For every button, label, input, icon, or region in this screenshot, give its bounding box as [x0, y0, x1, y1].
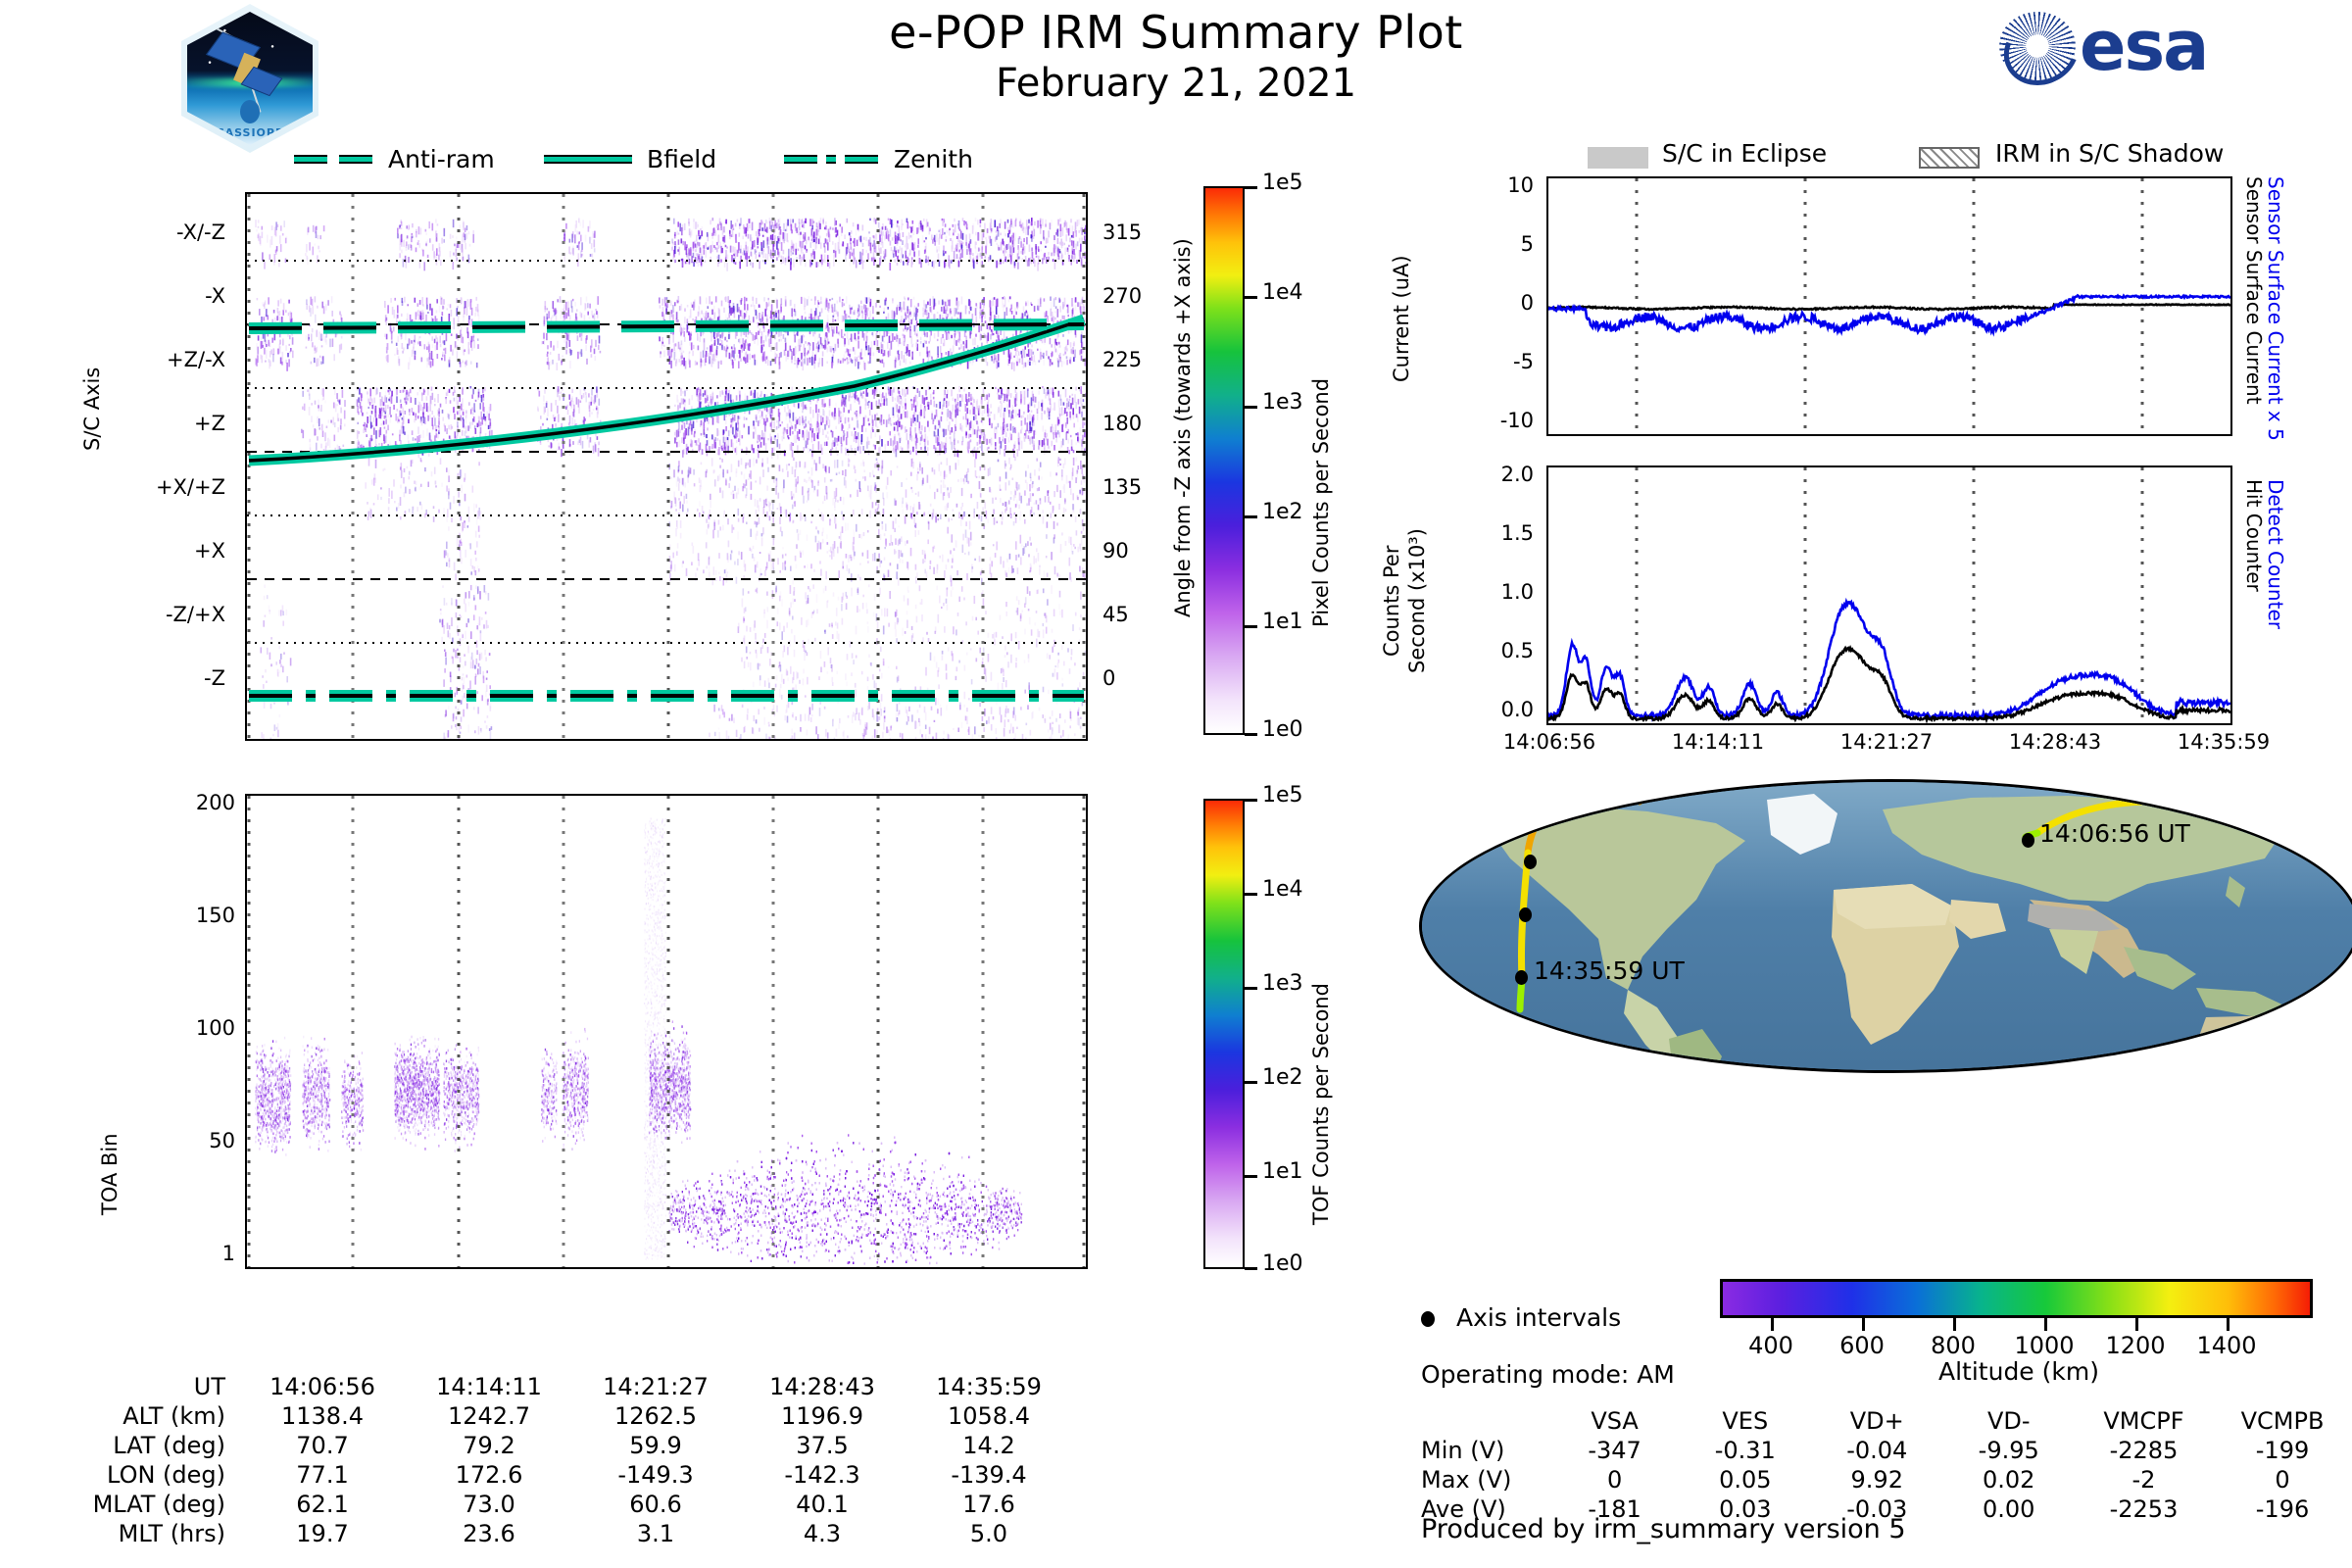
cell-value: 9.92 — [1811, 1465, 1942, 1494]
cell-lon: -149.3 — [572, 1460, 739, 1490]
cbar-tick-label: 1e0 — [1262, 717, 1303, 742]
counts-right-label-black: Hit Counter — [2242, 479, 2266, 705]
cbar-tick-label: 1e1 — [1262, 610, 1303, 634]
ytick-label: +Z/-X — [167, 348, 225, 371]
cell-lon: 77.1 — [239, 1460, 406, 1490]
row-label: UT — [39, 1372, 239, 1401]
alt-tick-label: 1200 — [2086, 1332, 2184, 1359]
row-label: LAT (deg) — [39, 1431, 239, 1460]
ytick-label: 10 — [1507, 173, 1534, 197]
axis-interval-dot-icon — [1421, 1311, 1435, 1327]
counts-plot[interactable] — [1546, 465, 2232, 725]
angle-tick-label: 0 — [1102, 666, 1115, 690]
col-header: VD+ — [1811, 1406, 1942, 1436]
legend-label-shadow: IRM in S/C Shadow — [1995, 139, 2224, 168]
ytick-label: -X — [205, 284, 225, 308]
toa-panel-ylabel: TOA Bin — [98, 1078, 122, 1215]
table-row: Max (V) 0 0.05 9.92 0.02 -2 0 — [1421, 1465, 2352, 1494]
ytick-label: 0 — [1521, 291, 1534, 315]
angle-tick-label: 45 — [1102, 603, 1129, 626]
cell-ut: 14:21:27 — [572, 1372, 739, 1401]
map-end-time-label: 14:35:59 UT — [1534, 956, 1685, 985]
ytick-label: 1.5 — [1501, 521, 1534, 545]
cell-value: -199 — [2213, 1436, 2352, 1465]
pixel-heatmap-plot[interactable] — [245, 192, 1088, 741]
ytick-label: -5 — [1513, 350, 1534, 373]
cell-ut: 14:06:56 — [239, 1372, 406, 1401]
cell-value: 0 — [2213, 1465, 2352, 1494]
table-row: Min (V) -347 -0.31 -0.04 -9.95 -2285 -19… — [1421, 1436, 2352, 1465]
cbar-tick-label: 1e5 — [1262, 783, 1303, 808]
angle-tick-label: 180 — [1102, 412, 1142, 435]
col-header: VES — [1680, 1406, 1811, 1436]
time-tick-label: 14:21:27 — [1803, 730, 1970, 754]
table-row: UT 14:06:56 14:14:11 14:21:27 14:28:43 1… — [39, 1372, 1072, 1401]
cell-mlat: 40.1 — [739, 1490, 906, 1519]
cell-mlt: 23.6 — [406, 1519, 572, 1548]
cell-lat: 79.2 — [406, 1431, 572, 1460]
cell-lat: 59.9 — [572, 1431, 739, 1460]
table-row: ALT (km) 1138.4 1242.7 1262.5 1196.9 105… — [39, 1401, 1072, 1431]
ytick-label: 5 — [1521, 232, 1534, 256]
cell-value: -0.04 — [1811, 1436, 1942, 1465]
ephemeris-table: UT 14:06:56 14:14:11 14:21:27 14:28:43 1… — [39, 1372, 1137, 1548]
ytick-label: 150 — [196, 904, 235, 927]
row-label: Min (V) — [1421, 1436, 1550, 1465]
cell-value: -2 — [2075, 1465, 2213, 1494]
cell-alt: 1262.5 — [572, 1401, 739, 1431]
cell-value: -347 — [1550, 1436, 1680, 1465]
col-header: VD- — [1942, 1406, 2074, 1436]
panel-current: Current (uA) 10 5 0 -5 -10 Sensor Surfac… — [1372, 167, 2352, 461]
alt-tick-label: 1000 — [1995, 1332, 2093, 1359]
table-row: MLAT (deg) 62.1 73.0 60.6 40.1 17.6 — [39, 1490, 1072, 1519]
current-right-label-blue: Sensor Surface Current x 5 — [2264, 176, 2287, 451]
ytick-label: +X/+Z — [156, 475, 225, 499]
ytick-label: -Z — [204, 666, 225, 690]
cell-lon: -139.4 — [906, 1460, 1072, 1490]
pixel-counts-colorbar — [1203, 186, 1245, 735]
col-header: VCMPB — [2213, 1406, 2352, 1436]
track-point-apex — [2228, 806, 2240, 820]
counts-right-label-blue: Detect Counter — [2264, 479, 2287, 705]
ytick-label: 0.0 — [1501, 698, 1534, 721]
table-row: LAT (deg) 70.7 79.2 59.9 37.5 14.2 — [39, 1431, 1072, 1460]
esa-logo: esa — [1999, 8, 2264, 84]
row-label: ALT (km) — [39, 1401, 239, 1431]
cell-lat: 37.5 — [739, 1431, 906, 1460]
row-label: Max (V) — [1421, 1465, 1550, 1494]
esa-wordmark: esa — [2080, 6, 2207, 86]
cell-lon: 172.6 — [406, 1460, 572, 1490]
time-tick-label: 14:35:59 — [2140, 730, 2307, 754]
track-point-end — [1515, 970, 1528, 985]
counts-ylabel: Counts Per Second (x10³) — [1380, 503, 1429, 699]
cell-alt: 1138.4 — [239, 1401, 406, 1431]
angle-tick-label: 270 — [1102, 284, 1142, 308]
legend-label-eclipse: S/C in Eclipse — [1662, 139, 1827, 168]
map-start-time-label: 14:06:56 UT — [2039, 819, 2190, 848]
pixel-panel-right-ylabel: Angle from -Z axis (towards +X axis) — [1171, 206, 1195, 617]
cell-alt: 1196.9 — [739, 1401, 906, 1431]
panel-counts-per-second: Counts Per Second (x10³) 2.0 1.5 1.0 0.5… — [1372, 456, 2352, 750]
voltage-table: VSA VES VD+ VD- VMCPF VCMPB Min (V) -347… — [1421, 1406, 2352, 1524]
cell-value: 0.00 — [1942, 1494, 2074, 1524]
cell-ut: 14:14:11 — [406, 1372, 572, 1401]
cbar-tick-label: 1e3 — [1262, 390, 1303, 415]
map-canvas: 14:06:56 UT 14:35:59 UT — [1419, 779, 2352, 1073]
cell-mlt: 19.7 — [239, 1519, 406, 1548]
cell-mlat: 73.0 — [406, 1490, 572, 1519]
track-point-mid1 — [1524, 855, 1537, 869]
ytick-label: +Z — [194, 412, 225, 435]
ytick-label: -10 — [1500, 409, 1534, 432]
alt-tick-label: 600 — [1813, 1332, 1911, 1359]
cell-mlat: 60.6 — [572, 1490, 739, 1519]
cell-ut: 14:28:43 — [739, 1372, 906, 1401]
panel-pixel-counts: S/C Axis -X/-Z -X +Z/-X +Z +X/+Z +X -Z/+… — [0, 0, 1372, 784]
cbar-tick-label: 1e4 — [1262, 280, 1303, 305]
produced-by-label: Produced by irm_summary version 5 — [1421, 1514, 1906, 1544]
cell-alt: 1242.7 — [406, 1401, 572, 1431]
cell-value: -2253 — [2075, 1494, 2213, 1524]
cell-value: -196 — [2213, 1494, 2352, 1524]
angle-tick-label: 225 — [1102, 348, 1142, 371]
ytick-label: 200 — [196, 791, 235, 814]
current-right-label-black: Sensor Surface Current — [2242, 176, 2266, 451]
cell-value: 0.05 — [1680, 1465, 1811, 1494]
angle-tick-label: 315 — [1102, 220, 1142, 244]
toa-counts-colorbar — [1203, 799, 1245, 1269]
cell-mlat: 62.1 — [239, 1490, 406, 1519]
time-tick-label: 14:06:56 — [1466, 730, 1633, 754]
cell-value: -0.31 — [1680, 1436, 1811, 1465]
cell-value: 0.02 — [1942, 1465, 2074, 1494]
ytick-label: 50 — [209, 1129, 235, 1152]
table-row: LON (deg) 77.1 172.6 -149.3 -142.3 -139.… — [39, 1460, 1072, 1490]
altitude-colorbar-label: Altitude (km) — [1764, 1357, 2274, 1386]
track-point-start — [2022, 833, 2034, 848]
ytick-label: -Z/+X — [166, 603, 225, 626]
ytick-label: +X — [194, 539, 225, 563]
alt-tick-label: 800 — [1904, 1332, 2002, 1359]
current-plot[interactable] — [1546, 176, 2232, 436]
panel-toa-bin: TOA Bin 200 150 100 50 1 — [0, 764, 1372, 1392]
table-row: MLT (hrs) 19.7 23.6 3.1 4.3 5.0 — [39, 1519, 1072, 1548]
operating-mode-label: Operating mode: AM — [1421, 1360, 1675, 1389]
cell-value: -9.95 — [1942, 1436, 2074, 1465]
row-label: MLT (hrs) — [39, 1519, 239, 1548]
alt-tick-label: 1400 — [2178, 1332, 2276, 1359]
toa-heatmap-plot[interactable] — [245, 794, 1088, 1269]
track-point-mid2 — [1519, 907, 1532, 922]
counts-ylabel-line1: Counts Per — [1380, 503, 1403, 699]
cell-lat: 14.2 — [906, 1431, 1072, 1460]
alt-tick-label: 400 — [1722, 1332, 1820, 1359]
cell-mlt: 4.3 — [739, 1519, 906, 1548]
row-label: MLAT (deg) — [39, 1490, 239, 1519]
cbar-tick-label: 1e4 — [1262, 877, 1303, 902]
cbar-tick-label: 1e2 — [1262, 1065, 1303, 1090]
cbar-tick-label: 1e3 — [1262, 971, 1303, 996]
axis-intervals-label: Axis intervals — [1456, 1303, 1621, 1332]
angle-tick-label: 90 — [1102, 539, 1129, 563]
cell-ut: 14:35:59 — [906, 1372, 1072, 1401]
col-header: VSA — [1550, 1406, 1680, 1436]
ytick-label: 100 — [196, 1016, 235, 1040]
altitude-colorbar — [1720, 1279, 2313, 1318]
pixel-colorbar-label: Pixel Counts per Second — [1309, 284, 1333, 627]
ytick-label: 1 — [222, 1242, 235, 1265]
cell-value: -2285 — [2075, 1436, 2213, 1465]
time-tick-label: 14:14:11 — [1635, 730, 1801, 754]
shadow-swatch — [1919, 147, 1980, 169]
eclipse-swatch — [1588, 147, 1648, 169]
row-label: LON (deg) — [39, 1460, 239, 1490]
cell-mlat: 17.6 — [906, 1490, 1072, 1519]
cell-alt: 1058.4 — [906, 1401, 1072, 1431]
ytick-label: -X/-Z — [176, 220, 225, 244]
cbar-tick-label: 1e5 — [1262, 171, 1303, 195]
current-ylabel: Current (uA) — [1390, 196, 1413, 382]
cell-lat: 70.7 — [239, 1431, 406, 1460]
ytick-label: 1.0 — [1501, 580, 1534, 604]
cbar-tick-label: 1e2 — [1262, 500, 1303, 524]
toa-colorbar-label: TOF Counts per Second — [1309, 892, 1333, 1225]
col-header: VMCPF — [2075, 1406, 2213, 1436]
cell-mlt: 5.0 — [906, 1519, 1072, 1548]
cell-value: 0 — [1550, 1465, 1680, 1494]
cbar-tick-label: 1e1 — [1262, 1159, 1303, 1184]
angle-tick-label: 135 — [1102, 475, 1142, 499]
ground-track-map[interactable]: 14:06:56 UT 14:35:59 UT — [1419, 779, 2352, 1073]
pixel-panel-ylabel: S/C Axis — [80, 284, 104, 451]
cell-mlt: 3.1 — [572, 1519, 739, 1548]
ytick-label: 0.5 — [1501, 639, 1534, 662]
table-header-row: VSA VES VD+ VD- VMCPF VCMPB — [1421, 1406, 2352, 1436]
ytick-label: 2.0 — [1501, 463, 1534, 486]
cbar-tick-label: 1e0 — [1262, 1251, 1303, 1276]
time-tick-label: 14:28:43 — [1972, 730, 2138, 754]
cell-lon: -142.3 — [739, 1460, 906, 1490]
counts-ylabel-line2: Second (x10³) — [1405, 503, 1429, 699]
